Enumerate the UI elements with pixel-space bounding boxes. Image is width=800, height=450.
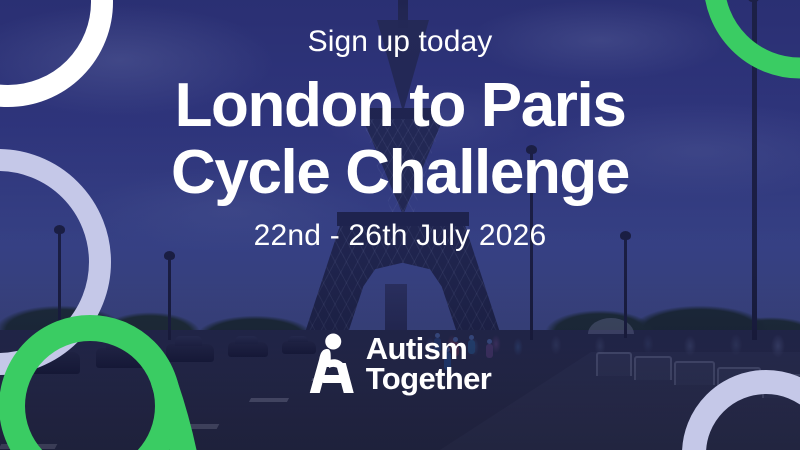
logo-wordmark: Autism Together	[366, 334, 492, 394]
autism-together-figure-mark-icon	[309, 333, 355, 395]
logo-word-bottom: Together	[366, 364, 492, 394]
headline-line-1: London to Paris	[171, 73, 629, 140]
page-title: London to Paris Cycle Challenge	[171, 73, 629, 207]
headline-line-2: Cycle Challenge	[171, 140, 629, 207]
promo-banner: Sign up today London to Paris Cycle Chal…	[0, 0, 800, 450]
event-dates: 22nd - 26th July 2026	[254, 221, 547, 251]
autism-together-logo: Autism Together	[309, 333, 492, 395]
logo-word-top: Autism	[366, 334, 492, 364]
eyebrow-text: Sign up today	[308, 27, 493, 57]
